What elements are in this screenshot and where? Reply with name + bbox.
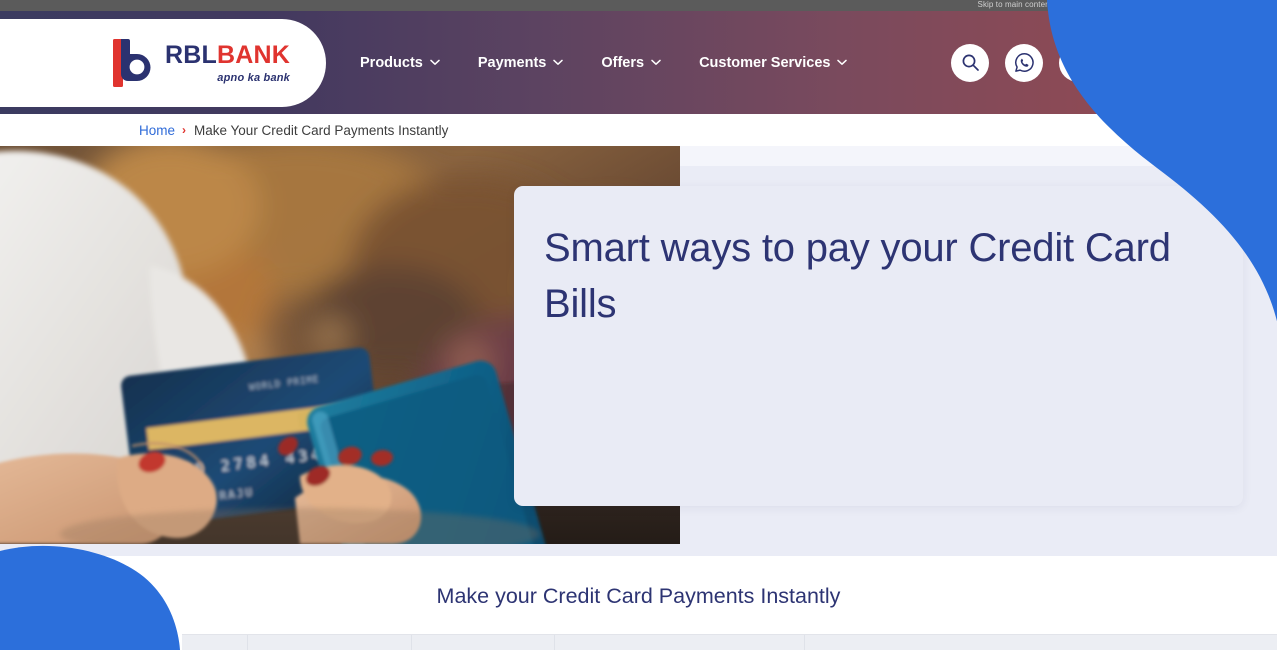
table-column xyxy=(412,635,555,650)
nav-item-label: Offers xyxy=(601,55,644,71)
main-navigation: Products Payments Offers Customer Servic… xyxy=(360,11,847,114)
nav-item-products[interactable]: Products xyxy=(360,55,440,71)
utility-strip: Skip to main content xyxy=(0,0,1277,11)
site-header: RBLBANK apno ka bank Products Payments xyxy=(0,11,1277,114)
nav-item-label: Customer Services xyxy=(699,55,830,71)
whatsapp-icon xyxy=(1014,52,1035,73)
notifications-button[interactable] xyxy=(1059,44,1097,82)
rbl-bank-logo[interactable]: RBLBANK apno ka bank xyxy=(112,37,290,89)
hero-text-card: Smart ways to pay your Credit Card Bills xyxy=(514,186,1243,506)
chevron-down-icon xyxy=(553,59,563,66)
table-column xyxy=(805,635,1277,650)
skip-to-main-content-link[interactable]: Skip to main content xyxy=(978,0,1052,10)
section-heading: Make your Credit Card Payments Instantly xyxy=(0,584,1277,609)
chevron-down-icon xyxy=(430,59,440,66)
logo-name-primary: RBL xyxy=(165,41,217,69)
logo-wordmark: RBLBANK apno ka bank xyxy=(165,43,290,84)
whatsapp-button[interactable] xyxy=(1005,44,1043,82)
page-root: Skip to main content RBLBANK apno ka ban… xyxy=(0,0,1277,650)
nav-item-offers[interactable]: Offers xyxy=(601,55,661,71)
rbl-b-logomark xyxy=(112,37,156,89)
breadcrumb-separator-icon: › xyxy=(182,123,186,137)
table-column xyxy=(248,635,412,650)
chevron-down-icon xyxy=(837,59,847,66)
table-column xyxy=(182,635,248,650)
logo-pill: RBLBANK apno ka bank xyxy=(0,19,326,107)
search-button[interactable] xyxy=(951,44,989,82)
header-actions xyxy=(951,11,1097,114)
hero-title: Smart ways to pay your Credit Card Bills xyxy=(544,220,1191,332)
nav-item-label: Payments xyxy=(478,55,547,71)
breadcrumb-home-link[interactable]: Home xyxy=(139,123,175,138)
nav-item-label: Products xyxy=(360,55,423,71)
logo-name-secondary: BANK xyxy=(217,41,290,69)
nav-item-payments[interactable]: Payments xyxy=(478,55,564,71)
breadcrumb: Home › Make Your Credit Card Payments In… xyxy=(0,114,1277,146)
nav-item-customer-services[interactable]: Customer Services xyxy=(699,55,847,71)
search-icon xyxy=(961,53,980,72)
chevron-down-icon xyxy=(651,59,661,66)
notification-badge-dot xyxy=(1084,47,1094,57)
logo-tagline: apno ka bank xyxy=(217,73,290,84)
breadcrumb-current-page: Make Your Credit Card Payments Instantly xyxy=(194,123,448,138)
table-column xyxy=(555,635,805,650)
comparison-table xyxy=(182,634,1277,650)
